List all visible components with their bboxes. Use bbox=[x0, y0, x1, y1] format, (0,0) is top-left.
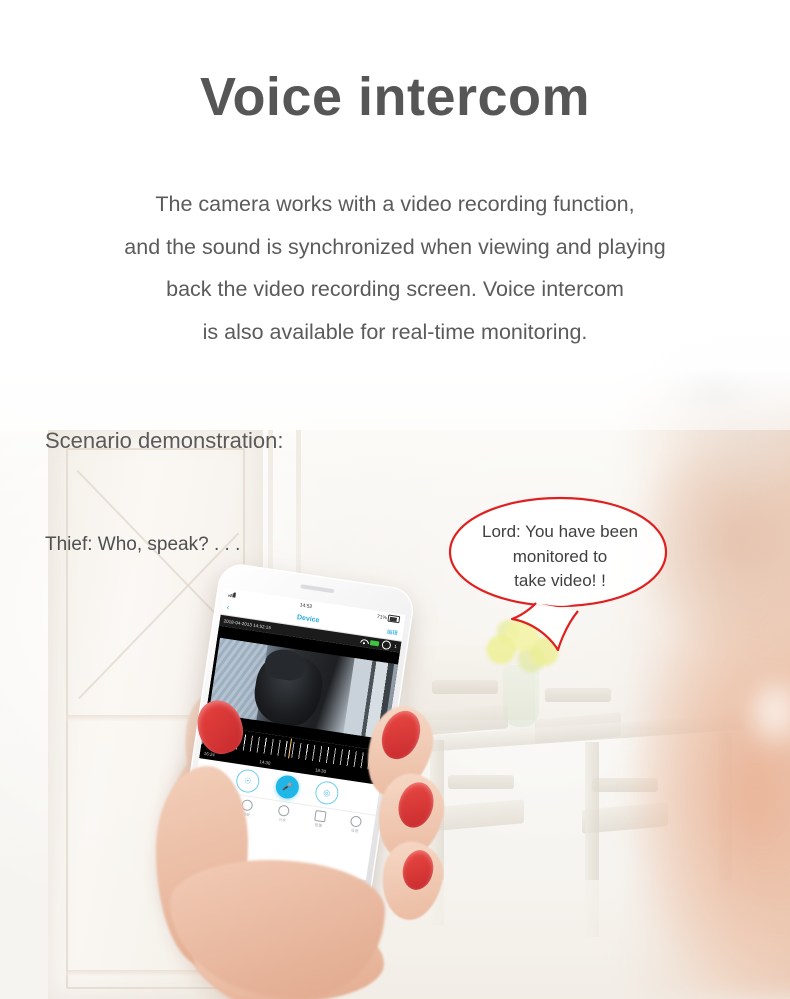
status-left bbox=[228, 592, 235, 598]
description-line-1: The camera works with a video recording … bbox=[0, 183, 790, 226]
tool-share-label: 分享 bbox=[278, 817, 286, 823]
description-line-4: is also available for real-time monitori… bbox=[0, 311, 790, 354]
signal-icon bbox=[370, 640, 380, 646]
app-title: Device bbox=[296, 614, 319, 624]
tool-settings-label: 设置 bbox=[351, 828, 359, 834]
page-root: Voice intercom The camera works with a v… bbox=[0, 0, 790, 999]
timeline-label-2: 14:30 bbox=[259, 759, 271, 766]
status-time: 14:52 bbox=[299, 602, 312, 610]
description-paragraph: The camera works with a video recording … bbox=[0, 183, 790, 353]
bubble-line-1: Lord: You have been bbox=[454, 520, 666, 545]
hand-holding-phone: 14:52 71% ‹ Device 编辑 2018-04-2013 14:52… bbox=[150, 560, 480, 999]
tool-alarm-label: 报警 bbox=[314, 822, 322, 828]
bubble-line-2: monitored to bbox=[454, 545, 666, 570]
tool-share[interactable]: 分享 bbox=[264, 803, 303, 826]
speech-bubble-text: Lord: You have been monitored to take vi… bbox=[454, 520, 666, 594]
edit-button[interactable]: 编辑 bbox=[386, 627, 398, 637]
settings-icon bbox=[350, 815, 363, 828]
person-ear bbox=[748, 680, 790, 750]
description-line-2: and the sound is synchronized when viewi… bbox=[0, 226, 790, 269]
hand-lower-palm bbox=[170, 860, 385, 999]
share-icon bbox=[278, 804, 291, 817]
thief-caption: Thief: Who, speak? . . . bbox=[45, 534, 240, 556]
page-title: Voice intercom bbox=[0, 68, 790, 127]
description-line-3: back the video recording screen. Voice i… bbox=[0, 268, 790, 311]
phone-earpiece bbox=[300, 584, 334, 593]
scenario-label: Scenario demonstration: bbox=[45, 428, 283, 454]
channel-number: 1 bbox=[394, 644, 397, 649]
bubble-line-3: take video! ! bbox=[454, 569, 666, 594]
chevron-left-icon[interactable]: ‹ bbox=[226, 603, 230, 611]
record-button[interactable]: ◎ bbox=[314, 779, 340, 805]
talk-button[interactable]: 🎤 bbox=[274, 773, 300, 799]
tool-alarm[interactable]: 报警 bbox=[300, 808, 339, 831]
wifi-icon bbox=[360, 639, 368, 645]
status-battery-percent: 71% bbox=[377, 613, 388, 620]
settings-icon[interactable] bbox=[382, 640, 392, 650]
timeline-label-3: 18:30 bbox=[315, 767, 327, 774]
snapshot-button[interactable]: ☉ bbox=[235, 767, 261, 793]
tool-settings[interactable]: 设置 bbox=[336, 813, 375, 836]
signal-bars-icon bbox=[228, 592, 235, 598]
battery-icon bbox=[387, 615, 400, 624]
alarm-icon bbox=[314, 810, 327, 823]
